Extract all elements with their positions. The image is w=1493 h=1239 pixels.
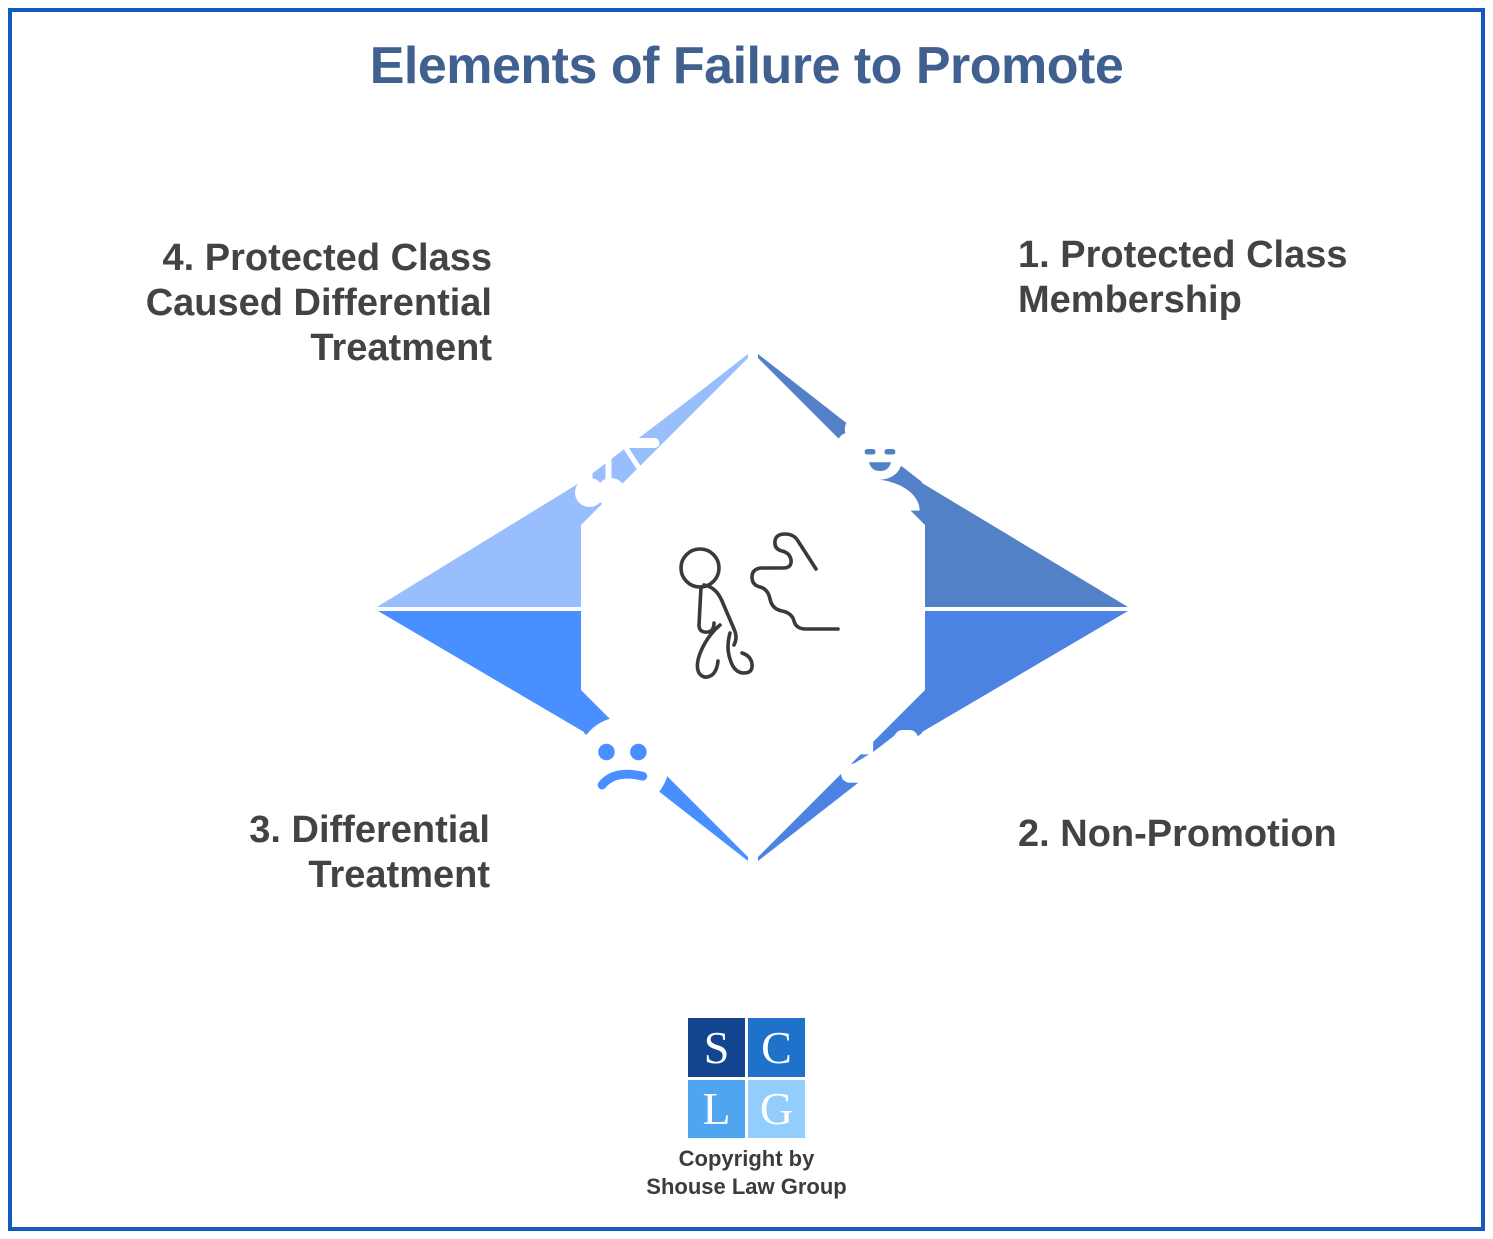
person-face-icon [825, 405, 935, 515]
escalator-down-icon [828, 697, 938, 807]
shouse-law-group-logo[interactable]: S C L G [688, 1018, 805, 1138]
sad-face-left-eye [598, 744, 615, 761]
sad-face-right-eye [630, 744, 647, 761]
infographic-page: Elements of Failure to Promote [0, 0, 1493, 1239]
logo-cell-s: S [688, 1018, 745, 1077]
logo-cell-g: G [748, 1080, 805, 1139]
label-4-line-2: Caused Differential [44, 281, 492, 326]
label-1-line-2: Membership [1018, 278, 1448, 323]
label-3-line-2: Treatment [90, 853, 490, 898]
footer: S C L G Copyright by Shouse Law Group [0, 1018, 1493, 1201]
logo-cell-l: L [688, 1080, 745, 1139]
label-4-line-1: 4. Protected Class [44, 236, 492, 281]
copyright-line-2: Shouse Law Group [646, 1173, 846, 1201]
newtons-cradle-icon [563, 418, 673, 528]
label-4-line-3: Treatment [44, 326, 492, 371]
copyright-text: Copyright by Shouse Law Group [646, 1145, 846, 1201]
label-protected-class-caused-differential-treatment[interactable]: 4. Protected Class Caused Differential T… [44, 236, 492, 370]
logo-cell-c: C [748, 1018, 805, 1077]
sad-face-icon [568, 708, 678, 818]
label-2-line-1: 2. Non-Promotion [1018, 812, 1448, 857]
label-3-line-1: 3. Differential [90, 808, 490, 853]
label-protected-class-membership[interactable]: 1. Protected Class Membership [1018, 233, 1448, 323]
label-1-line-1: 1. Protected Class [1018, 233, 1448, 278]
label-non-promotion[interactable]: 2. Non-Promotion [1018, 812, 1448, 857]
page-title: Elements of Failure to Promote [0, 36, 1493, 96]
label-differential-treatment[interactable]: 3. Differential Treatment [90, 808, 490, 898]
person-walking-path-icon [668, 525, 848, 685]
copyright-line-1: Copyright by [646, 1145, 846, 1173]
